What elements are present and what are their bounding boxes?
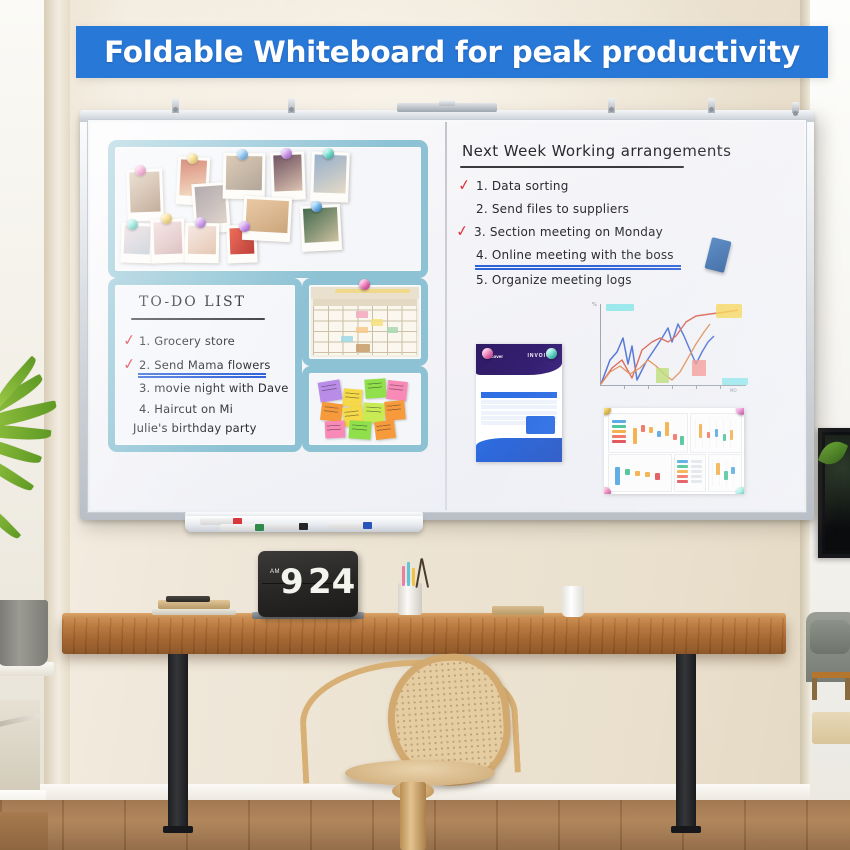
calendar-event bbox=[371, 319, 383, 326]
magnet-teal[interactable] bbox=[323, 148, 334, 159]
invoice-document[interactable]: Discover INVOICE bbox=[476, 344, 562, 462]
pen bbox=[402, 566, 405, 586]
magnet-teal[interactable] bbox=[736, 487, 744, 494]
calendar-ribbon bbox=[335, 289, 411, 293]
arrangement-item-3[interactable]: 3. Section meeting on Monday bbox=[474, 225, 663, 239]
dashboard-chart-2 bbox=[690, 413, 742, 453]
dashboard-chart-1 bbox=[608, 413, 688, 453]
chart-highlight-red bbox=[692, 360, 706, 376]
desk-leg-right bbox=[676, 654, 696, 830]
desk-top bbox=[62, 618, 786, 654]
center-hinge bbox=[397, 103, 497, 112]
arrangement-item-5[interactable]: 5. Organize meeting logs bbox=[476, 273, 632, 287]
sticky-note[interactable] bbox=[320, 402, 343, 422]
desk-leg-left bbox=[168, 654, 188, 830]
arrangement-check-3: ✓ bbox=[455, 221, 470, 241]
todo-item-1[interactable]: 1. Grocery store bbox=[139, 334, 235, 348]
analytics-dashboard-poster[interactable] bbox=[604, 408, 744, 494]
calendar-event bbox=[341, 336, 353, 342]
todo-underline-b bbox=[138, 376, 266, 378]
calendar-event bbox=[356, 344, 370, 352]
jute-rug bbox=[812, 712, 850, 744]
invoice-row bbox=[481, 411, 557, 415]
photo-board-panel[interactable] bbox=[108, 140, 428, 278]
sticky-note[interactable] bbox=[348, 420, 371, 439]
flip-clock[interactable]: AM 9 24 bbox=[258, 551, 358, 617]
chair-center-post bbox=[400, 782, 426, 850]
black-marker[interactable] bbox=[266, 523, 308, 530]
panel-fold-line bbox=[445, 122, 447, 510]
wall-mount-bracket bbox=[608, 98, 615, 113]
whiteboard-surface[interactable]: TO-DO LIST ✓ 1. Grocery store ✓ 2. Send … bbox=[90, 122, 804, 510]
wall-mount-bracket bbox=[792, 102, 799, 113]
wood-floor-left bbox=[0, 812, 48, 850]
todo-check-2: ✓ bbox=[122, 354, 137, 374]
plant-pot bbox=[0, 600, 48, 666]
magnet-purple[interactable] bbox=[239, 221, 250, 232]
magnet-pink[interactable] bbox=[135, 165, 146, 176]
invoice-footer bbox=[476, 438, 562, 462]
stacked-books bbox=[152, 596, 236, 616]
photo-item[interactable] bbox=[126, 168, 164, 221]
todo-check-1: ✓ bbox=[122, 330, 137, 350]
magnet-purple[interactable] bbox=[281, 148, 292, 159]
magnet-pink[interactable] bbox=[482, 348, 493, 359]
product-lifestyle-scene: TO-DO LIST ✓ 1. Grocery store ✓ 2. Send … bbox=[0, 0, 850, 850]
arrangement-item-4[interactable]: 4. Online meeting with the boss bbox=[476, 248, 674, 262]
todo-title-rule bbox=[131, 318, 265, 320]
wall-mount-bracket bbox=[708, 98, 715, 113]
sticky-note[interactable] bbox=[342, 388, 362, 408]
magnet-teal[interactable] bbox=[546, 348, 557, 359]
sticky-note[interactable] bbox=[318, 379, 343, 402]
photo-item[interactable] bbox=[120, 222, 153, 263]
calendar-weekday-row bbox=[313, 299, 417, 306]
heading-rule bbox=[460, 166, 684, 168]
arrangement-underline-a bbox=[475, 265, 681, 267]
todo-item-2[interactable]: 2. Send Mama flowers bbox=[139, 358, 271, 372]
clock-meridiem: AM bbox=[270, 569, 280, 575]
chart-highlight-green bbox=[656, 368, 669, 383]
chart-highlight-teal-2 bbox=[722, 378, 748, 385]
magnet-purple[interactable] bbox=[195, 217, 206, 228]
foldable-whiteboard[interactable]: TO-DO LIST ✓ 1. Grocery store ✓ 2. Send … bbox=[80, 112, 814, 520]
sofa-leg bbox=[845, 678, 850, 700]
todo-item-4[interactable]: 4. Haircut on Mi bbox=[139, 402, 233, 416]
calendar-panel[interactable] bbox=[302, 278, 428, 366]
monthly-calendar[interactable] bbox=[311, 287, 419, 357]
sticky-note[interactable] bbox=[386, 380, 408, 401]
todo-title: TO-DO LIST bbox=[139, 294, 246, 310]
magnet-pink[interactable] bbox=[359, 279, 370, 290]
blue-marker[interactable] bbox=[328, 522, 372, 529]
dashboard-chart-3 bbox=[608, 454, 672, 492]
magnet-yellow[interactable] bbox=[161, 213, 172, 224]
calendar-event bbox=[356, 327, 368, 333]
invoice-row bbox=[481, 400, 557, 404]
sticky-notes-panel[interactable] bbox=[302, 366, 428, 452]
magnetic-eraser[interactable] bbox=[704, 237, 731, 273]
pen-holder bbox=[398, 583, 422, 615]
headline-banner: Foldable Whiteboard for peak productivit… bbox=[76, 26, 828, 78]
todo-underline-a bbox=[138, 373, 266, 375]
sofa-leg bbox=[812, 678, 817, 700]
todo-item-5[interactable]: Julie's birthday party bbox=[133, 421, 257, 435]
desk-foot-right bbox=[671, 826, 701, 833]
photo-item[interactable] bbox=[150, 218, 186, 263]
hand-drawn-line-chart[interactable]: % MO bbox=[590, 302, 750, 394]
sticky-note[interactable] bbox=[384, 400, 406, 421]
headline-text: Foldable Whiteboard for peak productivit… bbox=[104, 35, 800, 69]
chart-annotation-note bbox=[716, 304, 742, 318]
magnet-blue[interactable] bbox=[237, 149, 248, 160]
envelope-photo[interactable] bbox=[242, 196, 292, 242]
calendar-event bbox=[387, 327, 399, 333]
paper-cup bbox=[562, 586, 584, 617]
arrangement-item-1[interactable]: 1. Data sorting bbox=[476, 179, 569, 193]
photo-item[interactable] bbox=[185, 223, 220, 264]
wall-mount-bracket bbox=[172, 98, 179, 113]
invoice-table-header bbox=[481, 392, 557, 398]
pen bbox=[412, 568, 415, 586]
todo-panel[interactable]: TO-DO LIST ✓ 1. Grocery store ✓ 2. Send … bbox=[108, 278, 302, 452]
clock-minute: 24 bbox=[308, 565, 355, 599]
desk-foot-left bbox=[163, 826, 193, 833]
todo-item-3[interactable]: 3. movie night with Dave bbox=[139, 381, 288, 395]
magnet-blue[interactable] bbox=[311, 201, 322, 212]
sofa-cushion bbox=[810, 620, 850, 654]
sticky-note[interactable] bbox=[364, 378, 386, 398]
sticky-note[interactable] bbox=[374, 420, 396, 440]
photo-item[interactable] bbox=[310, 151, 350, 202]
notebook bbox=[492, 606, 544, 615]
dashboard-chart-4 bbox=[708, 454, 742, 492]
photo-item[interactable] bbox=[300, 204, 342, 252]
chart-highlight-teal bbox=[606, 304, 634, 311]
magnet-teal[interactable] bbox=[127, 219, 138, 230]
green-marker[interactable] bbox=[220, 524, 264, 531]
dashboard-legend-table bbox=[674, 454, 706, 492]
working-arrangements-heading: Next Week Working arrangements bbox=[462, 142, 731, 160]
wall-mount-bracket bbox=[288, 98, 295, 113]
invoice-total-box bbox=[526, 416, 555, 434]
magnet-yellow[interactable] bbox=[187, 153, 198, 164]
clock-hour: 9 bbox=[280, 565, 304, 599]
pen bbox=[407, 562, 410, 586]
arrangement-check-1: ✓ bbox=[457, 175, 472, 195]
arrangement-underline-b bbox=[475, 268, 681, 270]
sticky-note[interactable] bbox=[325, 420, 346, 438]
calendar-event bbox=[356, 311, 368, 318]
arrangement-item-2[interactable]: 2. Send files to suppliers bbox=[476, 202, 629, 216]
invoice-row bbox=[481, 405, 557, 409]
